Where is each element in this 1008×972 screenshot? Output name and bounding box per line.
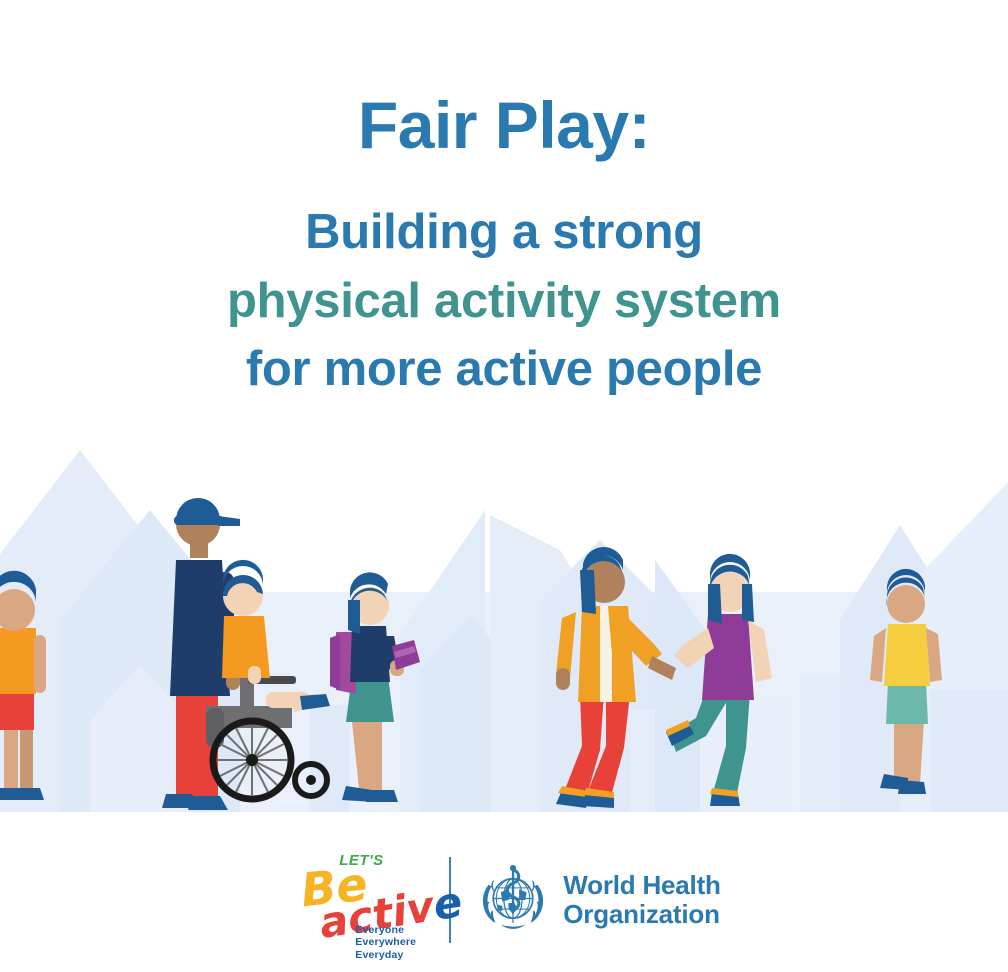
page-title: Fair Play:	[0, 92, 1008, 158]
who-logo[interactable]: World Health Organization	[475, 862, 720, 938]
footer-logos: LET'S Be active Everyone Everywhere Ever…	[0, 840, 1008, 960]
who-emblem-icon	[475, 862, 551, 938]
subtitle-line-3: for more active people	[0, 335, 1008, 404]
who-logo-text: World Health Organization	[563, 871, 720, 929]
lets-be-active-logo[interactable]: LET'S Be active Everyone Everywhere Ever…	[287, 850, 427, 950]
poster-canvas: Fair Play: Building a strong physical ac…	[0, 0, 1008, 972]
illustration-band	[0, 420, 1008, 812]
title-block: Fair Play: Building a strong physical ac…	[0, 0, 1008, 404]
background-shapes	[0, 450, 1008, 812]
active-final-e: e	[430, 877, 466, 930]
subtitle-line-2: physical activity system	[0, 267, 1008, 336]
subtitle-line-1: Building a strong	[0, 198, 1008, 267]
lets-be-active-tagline: Everyone Everywhere Everyday	[355, 924, 416, 961]
scene-svg	[0, 420, 1008, 812]
